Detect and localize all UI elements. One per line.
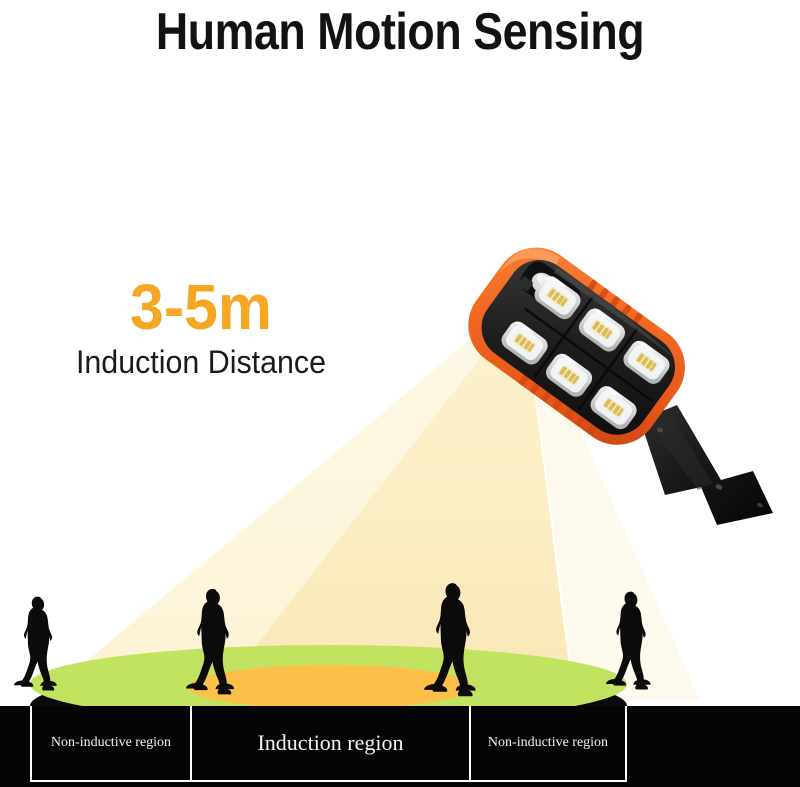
person-silhouette-4 <box>606 588 656 692</box>
person-silhouette-3 <box>424 580 482 698</box>
person-silhouette-1 <box>14 594 62 692</box>
region-label-center: Induction region <box>190 706 471 780</box>
diagram-canvas: Human Motion Sensing 3-5m Induction Dist… <box>0 0 800 787</box>
induction-distance-callout: 3-5m Induction Distance <box>56 276 346 382</box>
region-caption-cells: Non-inductive region Induction region No… <box>30 706 627 782</box>
person-silhouette-2 <box>186 586 240 696</box>
induction-distance-value: 3-5m <box>63 276 339 338</box>
mounting-bracket <box>640 405 773 525</box>
page-title: Human Motion Sensing <box>56 2 744 62</box>
solar-street-light <box>455 225 800 525</box>
induction-distance-label: Induction Distance <box>63 342 339 382</box>
region-label-left: Non-inductive region <box>32 706 190 780</box>
region-label-right: Non-inductive region <box>471 706 625 780</box>
